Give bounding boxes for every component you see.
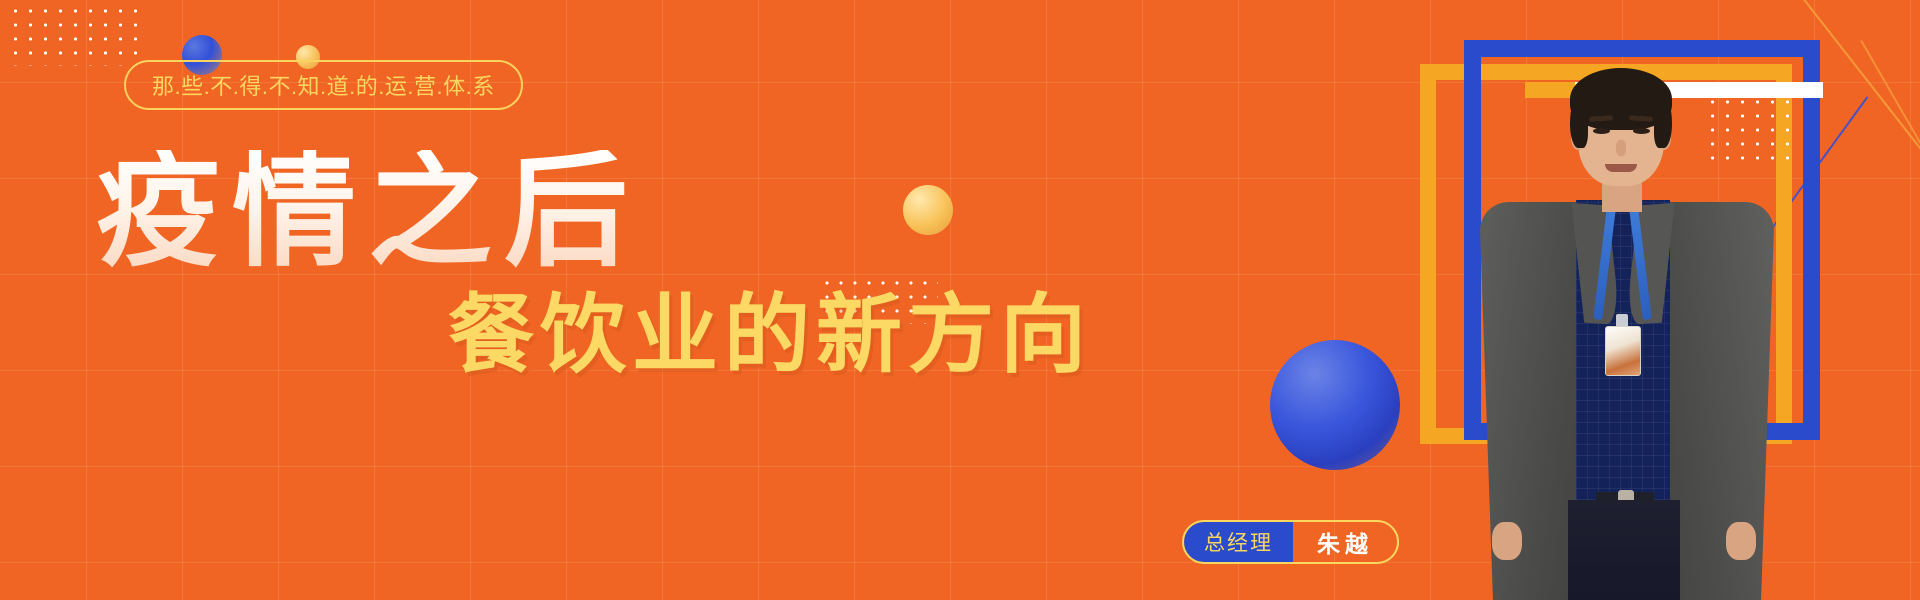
sphere-amber-medium-icon [903,185,953,235]
speaker-role: 总经理 [1184,522,1293,562]
portrait-eye-left [1593,128,1610,134]
speaker-badge: 总经理 朱越 [1182,520,1399,564]
portrait-hair-left [1570,94,1588,148]
diagonal-line-amber-secondary [1860,40,1920,258]
sphere-blue-large-icon [1270,340,1400,470]
portrait-hand-left [1492,522,1522,560]
subtitle-text: 那.些.不.得.不.知.道.的.运.营.体.系 [152,69,495,101]
portrait-mouth [1605,164,1637,172]
promo-banner: 那.些.不.得.不.知.道.的.运.营.体.系 疫情之后 疫情之后 餐饮业的新方… [0,0,1920,600]
portrait-eye-right [1633,128,1650,134]
portrait-id-badge [1605,326,1641,376]
dot-grid-top-left-icon [8,4,138,66]
speaker-portrait [1450,52,1810,600]
headline-line1: 疫情之后 [96,150,640,274]
portrait-hand-right [1726,522,1756,560]
portrait-trousers [1568,500,1680,600]
subtitle-pill: 那.些.不.得.不.知.道.的.运.营.体.系 [124,60,523,110]
speaker-name: 朱越 [1293,522,1397,562]
headline-line2: 餐饮业的新方向 [448,292,1092,378]
portrait-nose [1616,140,1626,156]
